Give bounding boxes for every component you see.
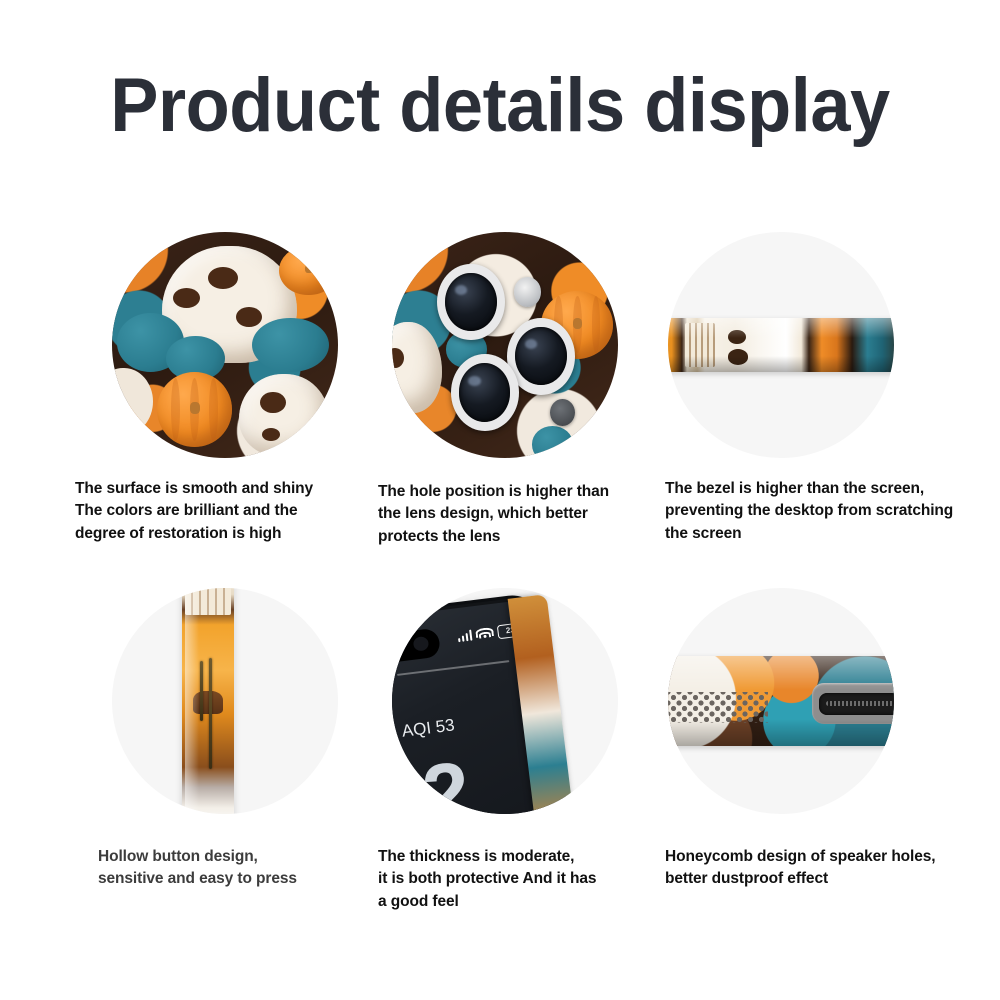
speaker-holes-grid: [668, 692, 768, 723]
screen-divider: [398, 660, 510, 676]
teal-blob: [532, 426, 573, 458]
teal-blob: [252, 318, 329, 372]
pumpkin-shape: [279, 246, 338, 296]
camera-lens-bottom: [451, 354, 519, 431]
page-title: Product details display: [25, 62, 975, 149]
feature-image-hollow-buttons: [112, 588, 338, 814]
pumpkin-shape: [157, 372, 232, 447]
feature-image-speaker-holes: [668, 588, 894, 814]
feature-caption-speaker-holes: Honeycomb design of speaker holes, bette…: [665, 846, 1000, 891]
product-details-page: Product details display The surf: [0, 0, 1000, 1000]
bottom-edge-strip: [668, 656, 894, 746]
skull-eye-icon: [236, 307, 262, 327]
lockscreen-clock: 12: [392, 748, 473, 814]
feature-image-thickness: 23 AQI 53 12: [392, 588, 618, 814]
skull-nose-icon: [208, 267, 238, 289]
feature-caption-thickness: The thickness is moderate, it is both pr…: [378, 846, 678, 913]
feature-caption-hollow-buttons: Hollow button design, sensitive and easy…: [98, 846, 398, 891]
skull-eye-icon: [392, 348, 404, 368]
feature-caption-camera-hole: The hole position is higher than the len…: [378, 481, 678, 548]
skull-eye-icon: [260, 392, 285, 413]
side-button-rail: [182, 588, 234, 814]
feature-image-camera-hole: [392, 232, 618, 458]
front-camera-icon: [413, 636, 430, 652]
camera-flash-icon: [514, 277, 541, 306]
skull-shape: [239, 374, 329, 455]
feature-image-raised-bezel: [668, 232, 894, 458]
aqi-widget: AQI 53: [392, 716, 456, 745]
volume-up-button-cutout[interactable]: [200, 661, 203, 722]
wifi-icon: [478, 627, 493, 640]
skull-eye-icon: [173, 288, 200, 308]
signal-bars-icon: [458, 630, 474, 643]
skull-nose-icon: [262, 428, 280, 441]
aqi-label: AQI 53: [401, 716, 456, 742]
bezel-edge-strip: [668, 318, 894, 372]
feature-caption-raised-bezel: The bezel is higher than the screen, pre…: [665, 478, 995, 545]
camera-lens-top: [437, 264, 505, 341]
phone-corner: 23 AQI 53 12: [392, 595, 569, 814]
dynamic-island: [392, 628, 441, 666]
feature-caption-surface-finish: The surface is smooth and shiny The colo…: [75, 478, 375, 545]
volume-down-button-cutout[interactable]: [209, 658, 212, 769]
feature-image-surface-finish: [112, 232, 338, 458]
air-quality-icon: [392, 725, 396, 742]
